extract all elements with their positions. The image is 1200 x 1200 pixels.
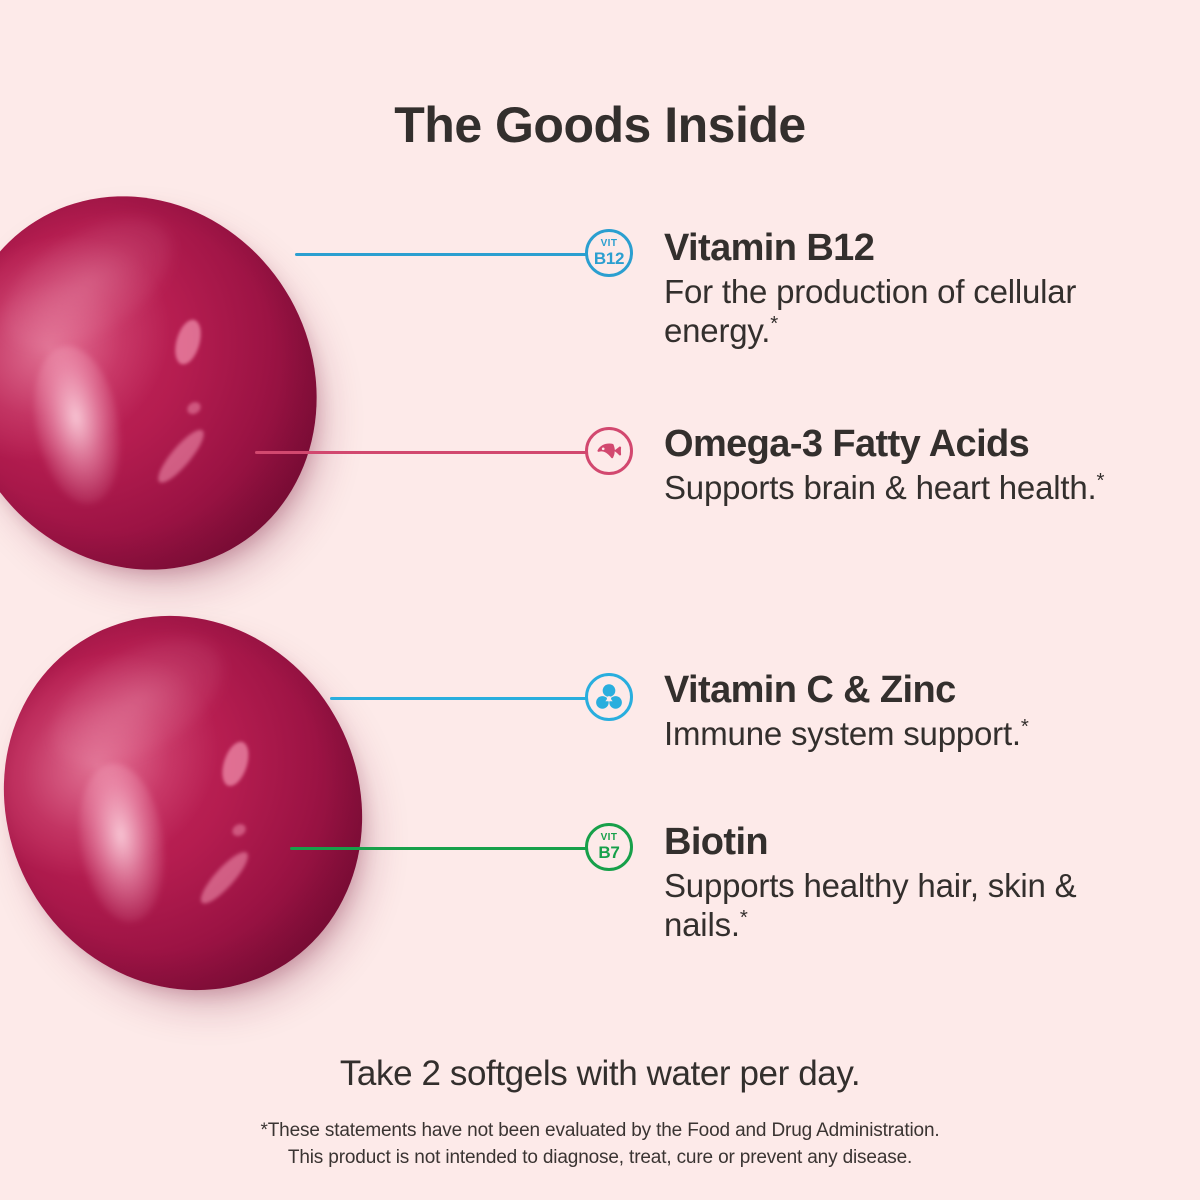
ingredient-name: Omega-3 Fatty Acids <box>664 424 1064 465</box>
footnote-marker: * <box>1096 469 1104 492</box>
connector-line-vitamin-c-zinc <box>330 697 587 700</box>
capsule-specular-c <box>185 400 203 417</box>
ingredient-description-text: For the production of cellular energy. <box>664 273 1076 349</box>
molecule-trefoil-icon <box>585 673 633 721</box>
fda-disclaimer-line-2: This product is not intended to diagnose… <box>0 1145 1200 1172</box>
badge-code-label: B7 <box>598 844 619 861</box>
ingredient-description: For the production of cellular energy.* <box>664 273 1164 351</box>
ingredient-name: Biotin <box>664 822 1114 863</box>
footnote-marker: * <box>1021 715 1029 738</box>
ingredient-name: Vitamin C & Zinc <box>664 670 1164 711</box>
ingredient-item-vitamin-c-zinc: Vitamin C & Zinc Immune system support.* <box>664 670 1164 754</box>
connector-line-omega-3 <box>255 451 587 454</box>
infographic-canvas: The Goods Inside VIT B12 <box>0 0 1200 1200</box>
badge-vit-label: VIT <box>601 239 618 249</box>
capsule-specular-c <box>230 822 248 839</box>
badge-vit-label: VIT <box>601 833 618 843</box>
ingredient-item-omega-3: Omega-3 Fatty Acids Supports brain & hea… <box>664 424 1064 508</box>
vitamin-b12-badge-icon: VIT B12 <box>585 229 633 277</box>
fda-disclaimer-line-1: *These statements have not been evaluate… <box>0 1118 1200 1145</box>
softgel-capsule-bottom <box>0 550 430 1056</box>
capsule-specular-a <box>217 739 253 789</box>
capsule-specular-b <box>195 847 254 909</box>
softgel-capsule-top <box>0 128 387 637</box>
footnote-marker: * <box>740 906 748 929</box>
fda-disclaimer: *These statements have not been evaluate… <box>0 1118 1200 1172</box>
ingredient-description: Supports healthy hair, skin & nails.* <box>664 867 1114 945</box>
capsule-highlight-top <box>0 191 194 375</box>
ingredient-item-vitamin-b12: Vitamin B12 For the production of cellul… <box>664 228 1164 351</box>
capsule-highlight-top <box>30 612 243 793</box>
capsule-specular-b <box>152 425 209 488</box>
connector-line-biotin <box>290 847 587 850</box>
ingredient-description-text: Immune system support. <box>664 715 1021 752</box>
capsule-rim-shading <box>0 550 430 1056</box>
capsule-specular-a <box>171 317 206 367</box>
ingredient-description-text: Supports brain & heart health. <box>664 469 1096 506</box>
page-title: The Goods Inside <box>0 96 1200 154</box>
ingredient-name: Vitamin B12 <box>664 228 1164 269</box>
ingredient-description-text: Supports healthy hair, skin & nails. <box>664 867 1076 943</box>
dosage-instruction: Take 2 softgels with water per day. <box>0 1054 1200 1094</box>
connector-line-vitamin-b12 <box>295 253 587 256</box>
fish-icon <box>585 427 633 475</box>
capsule-highlight-main <box>68 758 174 929</box>
vitamin-b7-badge-icon: VIT B7 <box>585 823 633 871</box>
capsule-highlight-main <box>21 339 132 512</box>
badge-code-label: B12 <box>594 250 624 267</box>
footnote-marker: * <box>770 312 778 335</box>
capsule-rim-shading <box>0 128 387 637</box>
ingredient-description: Immune system support.* <box>664 715 1164 754</box>
ingredient-description: Supports brain & heart health.* <box>664 469 1134 508</box>
ingredient-item-biotin: Biotin Supports healthy hair, skin & nai… <box>664 822 1114 945</box>
